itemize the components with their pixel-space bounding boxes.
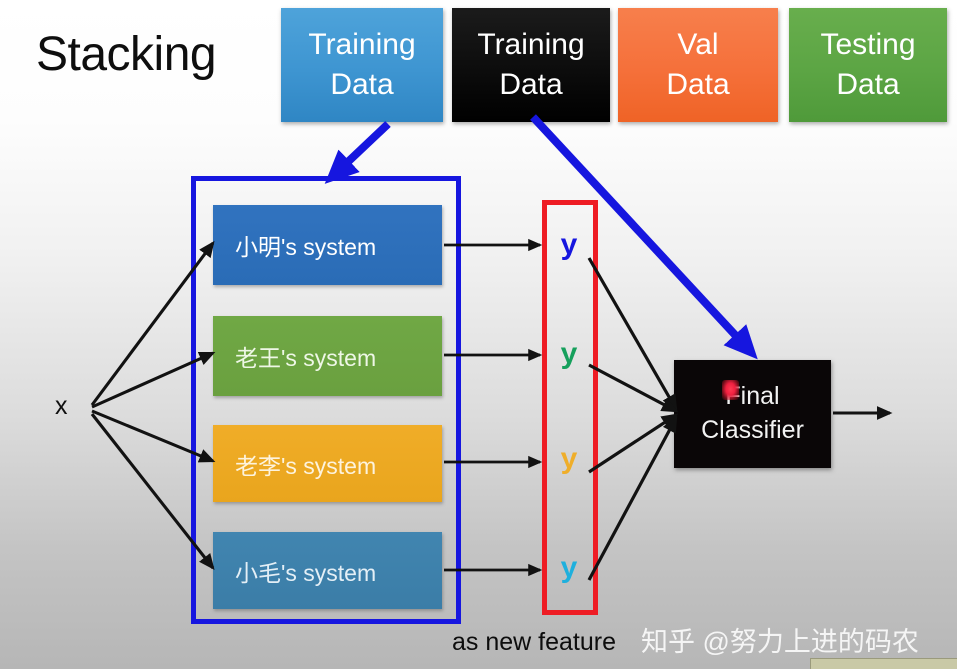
testing-data-box-line2: Data [836,65,899,105]
output-label-y-1: y [554,228,584,262]
system-box-xiaoming-label: 小明's system [235,228,376,262]
training-data-box-1[interactable]: Training Data [281,8,443,122]
arrow-y-2-to-final [589,365,676,411]
testing-data-box[interactable]: Testing Data [789,8,947,122]
system-box-laowang-label: 老王's system [235,339,376,373]
training-data-box-1-line2: Data [330,65,393,105]
testing-data-box-line1: Testing [820,25,915,65]
arrow-y-4-to-final [589,418,676,580]
system-box-laoli-label: 老李's system [235,447,376,481]
bottom-right-strip [810,658,957,669]
val-data-box-line1: Val [677,25,718,65]
training-data-box-2-line2: Data [499,65,562,105]
output-label-y-3: y [554,442,584,476]
watermark-text: 知乎 @努力上进的码农 [641,620,919,659]
system-box-laoli[interactable]: 老李's system [213,425,442,502]
slide-canvas: Stacking Training Data Training Data Val… [0,0,957,669]
final-classifier-line2: Classifier [701,414,804,448]
system-box-xiaomao[interactable]: 小毛's system [213,532,442,609]
output-label-y-2: y [554,337,584,371]
training-data-box-1-line1: Training [308,25,415,65]
val-data-box-line2: Data [666,65,729,105]
bottom-caption: as new feature [452,628,616,657]
final-classifier-box[interactable]: Final Classifier [674,360,831,468]
arrow-training-data-1-to-group [333,124,388,176]
system-box-laowang[interactable]: 老王's system [213,316,442,396]
final-classifier-line1: Final [725,380,779,414]
system-box-xiaoming[interactable]: 小明's system [213,205,442,285]
arrow-y-3-to-final [589,415,676,472]
val-data-box[interactable]: Val Data [618,8,778,122]
training-data-box-2-line1: Training [477,25,584,65]
output-label-y-4: y [554,551,584,585]
training-data-box-2[interactable]: Training Data [452,8,610,122]
system-box-xiaomao-label: 小毛's system [235,554,376,588]
output-to-final-classifier-arrows [589,258,676,580]
page-title: Stacking [36,27,216,82]
arrow-y-1-to-final [589,258,676,409]
input-label-x: x [55,392,68,421]
